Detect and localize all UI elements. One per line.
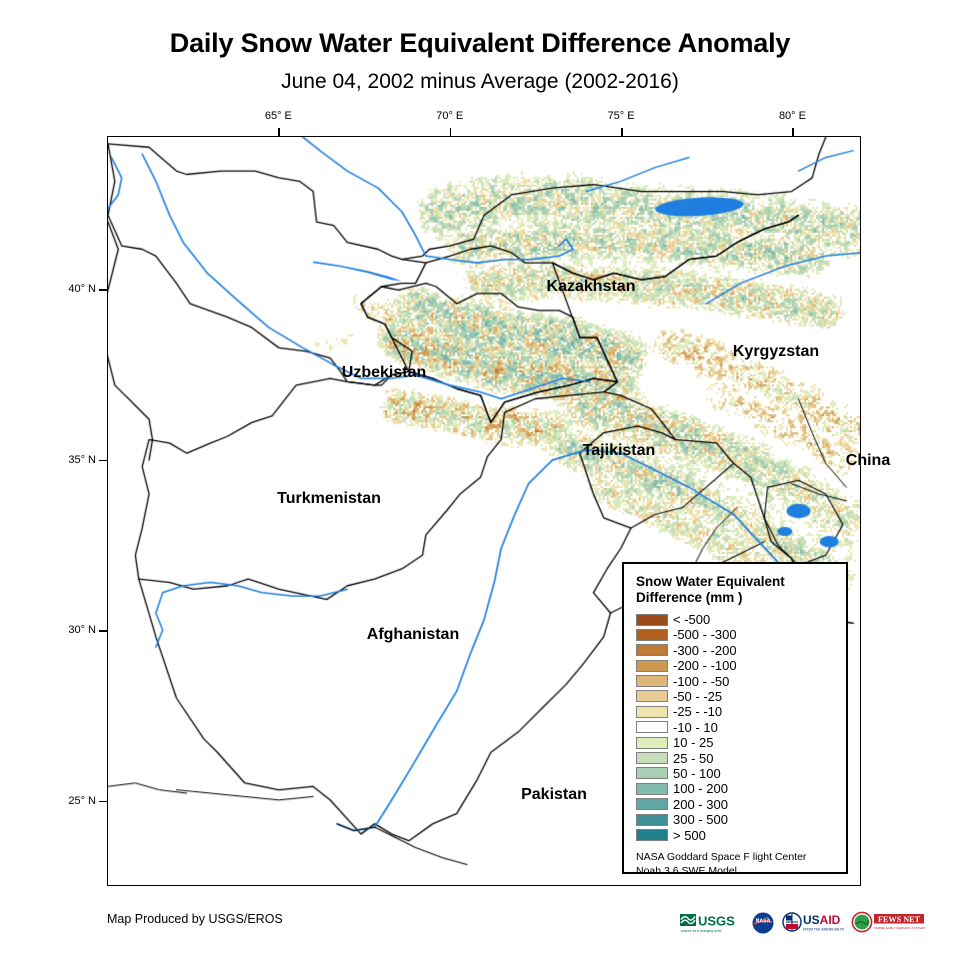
legend-entry: 200 - 300: [636, 797, 836, 812]
lon-tick: [278, 128, 280, 136]
legend-entry-label: > 500: [673, 829, 706, 842]
legend-swatch: [636, 706, 668, 718]
svg-text:FEWS NET: FEWS NET: [878, 915, 921, 924]
legend-entry-label: -100 - -50: [673, 675, 729, 688]
country-label-china: China: [846, 452, 890, 470]
svg-text:USGS: USGS: [698, 914, 735, 929]
legend-swatch: [636, 752, 668, 764]
legend-entry: -25 - -10: [636, 704, 836, 719]
legend-entry-label: -50 - -25: [673, 690, 722, 703]
lon-tick-label: 70° E: [436, 110, 463, 122]
lon-tick-label: 65° E: [265, 110, 292, 122]
lon-tick: [792, 128, 794, 136]
legend-entry-label: 300 - 500: [673, 813, 728, 826]
legend-entry: -50 - -25: [636, 689, 836, 704]
legend-swatch: [636, 629, 668, 641]
lat-tick-label: 30° N: [68, 624, 96, 636]
usaid-logo[interactable]: USAID FROM THE AMERICAN PEOPLE: [782, 910, 844, 936]
lat-tick-label: 35° N: [68, 454, 96, 466]
svg-text:science for a changing world: science for a changing world: [681, 929, 722, 933]
map-credit: Map Produced by USGS/EROS: [107, 912, 283, 926]
legend-entry-label: 50 - 100: [673, 767, 721, 780]
legend-entry-label: -500 - -300: [673, 628, 737, 641]
legend-entry: < -500: [636, 612, 836, 627]
lon-tick: [450, 128, 452, 136]
lon-tick-label: 80° E: [779, 110, 806, 122]
legend-entry-label: -300 - -200: [673, 644, 737, 657]
svg-text:FAMINE EARLY WARNING SYSTEMS N: FAMINE EARLY WARNING SYSTEMS NETWORK: [874, 926, 925, 930]
country-label-afghanistan: Afghanistan: [367, 626, 459, 644]
lat-tick: [99, 460, 107, 462]
lat-tick-label: 25° N: [68, 795, 96, 807]
legend-swatch: [636, 660, 668, 672]
legend-entry-label: 10 - 25: [673, 736, 713, 749]
lat-tick: [99, 289, 107, 291]
legend-entry-label: 200 - 300: [673, 798, 728, 811]
legend-swatch: [636, 644, 668, 656]
lon-tick-label: 75° E: [608, 110, 635, 122]
legend-entry: 10 - 25: [636, 735, 836, 750]
legend-entry-label: 25 - 50: [673, 752, 713, 765]
legend-entry: -500 - -300: [636, 627, 836, 642]
legend-entry: -300 - -200: [636, 643, 836, 658]
legend-entry: -10 - 10: [636, 720, 836, 735]
legend-source-line1: NASA Goddard Space F light Center: [636, 850, 836, 864]
legend-source-note: NASA Goddard Space F light Center Noah 3…: [636, 850, 836, 878]
legend-swatch: [636, 798, 668, 810]
legend-entry: 100 - 200: [636, 781, 836, 796]
country-label-turkmenistan: Turkmenistan: [277, 490, 381, 508]
page-subtitle: June 04, 2002 minus Average (2002-2016): [0, 70, 960, 94]
page-title: Daily Snow Water Equivalent Difference A…: [0, 28, 960, 59]
country-label-tajikistan: Tajikistan: [583, 442, 656, 460]
lat-tick-label: 40° N: [68, 283, 96, 295]
usgs-logo[interactable]: USGS science for a changing world: [680, 910, 744, 936]
nasa-logo[interactable]: NASA: [751, 910, 775, 936]
legend-title-line1: Snow Water Equivalent: [636, 574, 836, 590]
legend-entry-label: < -500: [673, 613, 710, 626]
country-label-kyrgyzstan: Kyrgyzstan: [733, 343, 819, 361]
country-label-pakistan: Pakistan: [521, 786, 587, 804]
legend-entry: -100 - -50: [636, 673, 836, 688]
legend-swatch: [636, 690, 668, 702]
legend-entry: 50 - 100: [636, 766, 836, 781]
lat-tick: [99, 630, 107, 632]
svg-text:FROM THE AMERICAN PEOPLE: FROM THE AMERICAN PEOPLE: [803, 928, 844, 932]
legend-entry: > 500: [636, 827, 836, 842]
lat-tick: [99, 801, 107, 803]
legend-entry-label: -10 - 10: [673, 721, 718, 734]
country-label-uzbekistan: Uzbekistan: [342, 364, 426, 382]
svg-text:USAID: USAID: [803, 913, 841, 927]
legend-swatch: [636, 737, 668, 749]
legend-swatch: [636, 767, 668, 779]
legend-swatch: [636, 814, 668, 826]
legend-title-line2: Difference (mm ): [636, 590, 836, 606]
country-label-kazakhstan: Kazakhstan: [547, 278, 636, 296]
legend-entry-label: 100 - 200: [673, 782, 728, 795]
legend-swatch: [636, 614, 668, 626]
legend-entry: 300 - 500: [636, 812, 836, 827]
agency-logos: USGS science for a changing world NASA U…: [680, 908, 925, 938]
legend-entry: 25 - 50: [636, 750, 836, 765]
legend-swatch: [636, 829, 668, 841]
legend-swatch: [636, 675, 668, 687]
legend-source-line2: Noah 3.6 SWE Model.: [636, 864, 836, 878]
legend-entry: -200 - -100: [636, 658, 836, 673]
lon-tick: [621, 128, 623, 136]
legend-title: Snow Water Equivalent Difference (mm ): [636, 574, 836, 606]
map-legend[interactable]: Snow Water Equivalent Difference (mm ) <…: [622, 562, 848, 874]
legend-entry-label: -200 - -100: [673, 659, 737, 672]
legend-entries: < -500-500 - -300-300 - -200-200 - -100-…: [636, 612, 836, 843]
fewsnet-logo[interactable]: FEWS NET FAMINE EARLY WARNING SYSTEMS NE…: [851, 910, 925, 936]
legend-swatch: [636, 721, 668, 733]
legend-entry-label: -25 - -10: [673, 705, 722, 718]
legend-swatch: [636, 783, 668, 795]
